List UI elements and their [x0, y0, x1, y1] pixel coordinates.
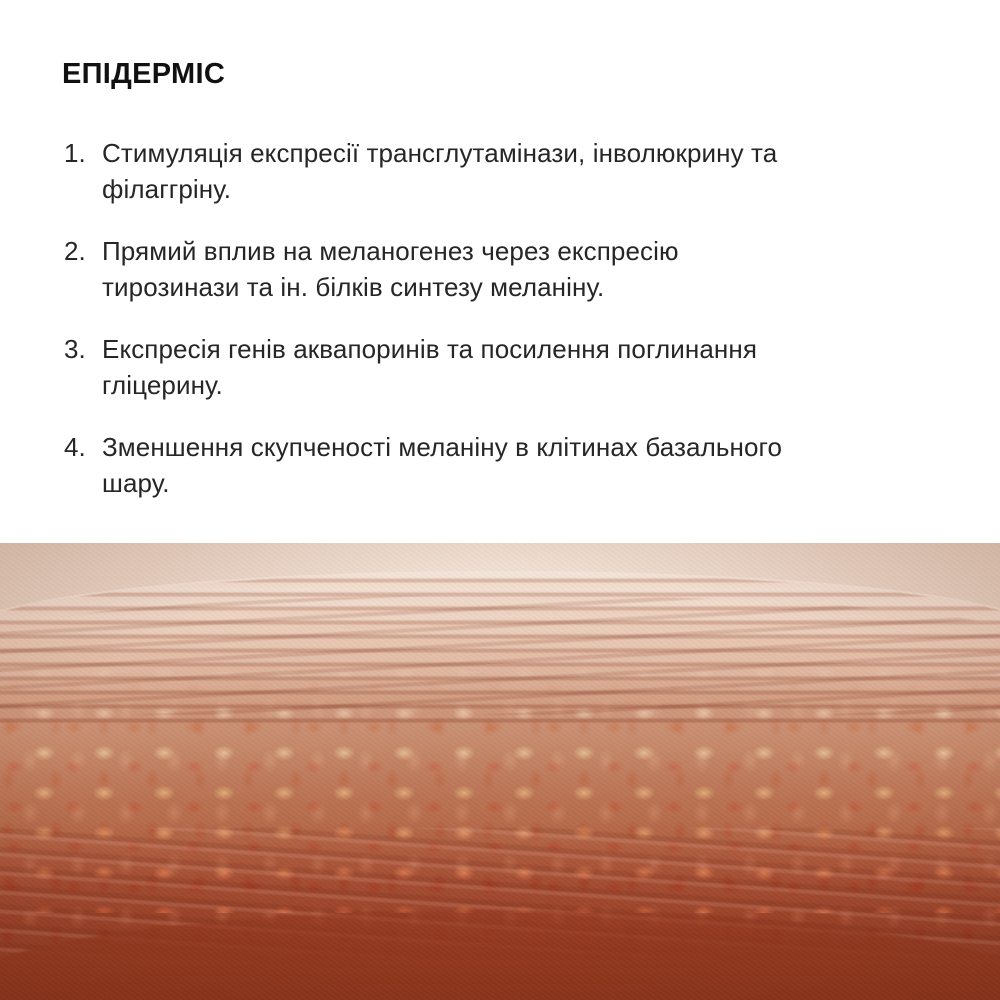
epidermis-illustration	[0, 543, 1000, 1000]
list-item-text: Стимуляція експресії трансглутамінази, і…	[102, 135, 812, 207]
list-item: 3. Експресія генів аквапоринів та посиле…	[60, 331, 940, 403]
list-item: 2. Прямий вплив на меланогенез через екс…	[60, 233, 940, 305]
corneum-striations-secondary	[0, 595, 1000, 715]
list-item-number: 1.	[60, 135, 102, 171]
list-item-number: 4.	[60, 429, 102, 465]
list-item: 4. Зменшення скупченості меланіну в кліт…	[60, 429, 940, 501]
slide-root: ЕПІДЕРМІС 1. Стимуляція експресії трансг…	[0, 0, 1000, 1000]
list-item: 1. Стимуляція експресії трансглутамінази…	[60, 135, 940, 207]
list-item-number: 2.	[60, 233, 102, 269]
list-item-text: Зменшення скупченості меланіну в клітина…	[102, 429, 812, 501]
page-title: ЕПІДЕРМІС	[62, 60, 940, 89]
text-panel: ЕПІДЕРМІС 1. Стимуляція експресії трансг…	[0, 0, 1000, 543]
list-item-text: Прямий вплив на меланогенез через експре…	[102, 233, 812, 305]
numbered-list: 1. Стимуляція експресії трансглутамінази…	[60, 135, 940, 501]
list-item-number: 3.	[60, 331, 102, 367]
list-item-text: Експресія генів аквапоринів та посилення…	[102, 331, 812, 403]
